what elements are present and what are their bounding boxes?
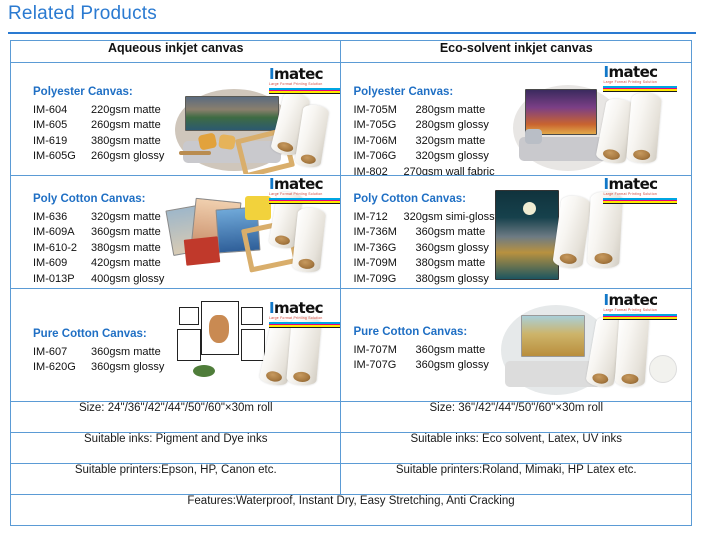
product-desc: 320gsm simi-glossy: [403, 210, 500, 226]
cmyk-bar: [269, 322, 341, 328]
logo-tagline: Large Format Printing Solution: [603, 80, 681, 85]
product-code: IM-620G: [33, 360, 91, 376]
size-row: Size: 24"/36"/42"/44"/50"/60"×30m roll S…: [11, 402, 692, 433]
product-item: IM-709M380gsm matte: [353, 256, 500, 272]
logo-tagline: Large Format Printing Solution: [269, 192, 341, 197]
spec-list-eco-poly-cotton: Poly Cotton Canvas: IM-712320gsm simi-gl…: [353, 192, 500, 287]
logo-wordmark: Imatec: [269, 177, 341, 192]
product-code: IM-707M: [353, 343, 415, 359]
roll-core: [592, 372, 609, 385]
logo-matec: matec: [608, 63, 657, 81]
logo-wordmark: Imatec: [603, 65, 681, 80]
imatec-logo: Imatec Large Format Printing Solution: [603, 293, 681, 320]
product-item: IM-736M360gsm matte: [353, 225, 500, 241]
product-code: IM-706G: [353, 149, 415, 165]
logo-tagline: Large Format Printing Solution: [603, 308, 681, 313]
roll-core: [603, 148, 622, 161]
printers-row: Suitable printers:Epson, HP, Canon etc. …: [11, 464, 692, 495]
product-desc: 360gsm matte: [91, 345, 161, 361]
features-row: Features:Waterproof, Instant Dry, Easy S…: [11, 495, 692, 526]
product-item: IM-705M280gsm matte: [353, 103, 494, 119]
canvas-artwork-wheat: [521, 315, 585, 357]
product-code: IM-712: [353, 210, 403, 226]
product-desc: 360gsm glossy: [91, 360, 164, 376]
spec-list-eco-pure-cotton: Pure Cotton Canvas: IM-707M360gsm matte …: [353, 325, 488, 374]
product-code: IM-636: [33, 210, 91, 226]
product-desc: 360gsm matte: [415, 343, 485, 359]
title-divider: [8, 32, 696, 34]
product-item: IM-712320gsm simi-glossy: [353, 210, 500, 226]
product-item: IM-605G260gsm glossy: [33, 149, 164, 165]
roll-core: [276, 141, 294, 154]
roll-core: [595, 252, 614, 264]
category-label: Pure Cotton Canvas:: [33, 327, 164, 343]
product-desc: 280gsm matte: [415, 103, 485, 119]
cell-eco-polyester: Polyester Canvas: IM-705M280gsm matte IM…: [341, 63, 692, 176]
product-code: IM-736M: [353, 225, 415, 241]
product-item: IM-013P400gsm glossy: [33, 272, 164, 288]
logo-wordmark: Imatec: [603, 177, 681, 192]
cmyk-bar: [269, 88, 341, 94]
gallery-frame: [179, 307, 199, 325]
roll-core: [560, 253, 578, 265]
imatec-logo: Imatec Large Format Printing Solution: [269, 177, 341, 204]
imatec-logo: Imatec Large Format Printing Solution: [603, 177, 681, 204]
inks-left: Suitable inks: Pigment and Dye inks: [11, 433, 341, 464]
cell-eco-pure-cotton: Pure Cotton Canvas: IM-707M360gsm matte …: [341, 289, 692, 402]
product-desc: 380gsm matte: [415, 256, 485, 272]
size-right: Size: 36"/42"/44"/50"/60"×30m roll: [341, 402, 692, 433]
roll-core: [274, 234, 290, 245]
cmyk-bar: [603, 86, 677, 92]
inks-right: Suitable inks: Eco solvent, Latex, UV in…: [341, 433, 692, 464]
logo-matec: matec: [608, 176, 657, 194]
color-swatch: [245, 196, 271, 220]
product-desc: 320gsm matte: [415, 134, 485, 150]
product-desc: 360gsm matte: [415, 225, 485, 241]
product-desc: 400gsm glossy: [91, 272, 164, 288]
roll-core: [622, 373, 640, 384]
product-desc: 380gsm matte: [91, 241, 161, 257]
product-code: IM-609A: [33, 225, 91, 241]
logo-tagline: Large Format Printing Solution: [269, 316, 341, 321]
product-desc: 320gsm glossy: [415, 149, 488, 165]
canvas-roll: [626, 92, 662, 164]
product-code: IM-802: [353, 165, 403, 176]
product-code: IM-013P: [33, 272, 91, 288]
gallery-frame: [177, 329, 201, 361]
product-desc: 360gsm glossy: [415, 358, 488, 374]
roll-core: [265, 370, 283, 383]
product-desc: 260gsm glossy: [91, 149, 164, 165]
product-desc: 270gsm wall fabric: [403, 165, 494, 176]
cmyk-bar: [603, 314, 677, 320]
printers-right: Suitable printers:Roland, Mimaki, HP Lat…: [341, 464, 692, 495]
table-header-row: Aqueous inkjet canvas Eco-solvent inkjet…: [11, 41, 692, 63]
product-item: IM-706G320gsm glossy: [353, 149, 494, 165]
imatec-logo: Imatec Large Format Printing Solution: [269, 301, 341, 328]
inks-row: Suitable inks: Pigment and Dye inks Suit…: [11, 433, 692, 464]
product-item: IM-620G360gsm glossy: [33, 360, 164, 376]
page-title: Related Products: [8, 3, 157, 25]
logo-tagline: Large Format Printing Solution: [269, 82, 341, 87]
size-left: Size: 24"/36"/42"/44"/50"/60"×30m roll: [11, 402, 341, 433]
spec-list-aqueous-pure-cotton: Pure Cotton Canvas: IM-607360gsm matte I…: [33, 327, 164, 376]
product-item: IM-705G280gsm glossy: [353, 118, 494, 134]
product-desc: 280gsm glossy: [415, 118, 488, 134]
product-item: IM-636320gsm matte: [33, 210, 164, 226]
product-code: IM-709M: [353, 256, 415, 272]
product-desc: 320gsm matte: [91, 210, 161, 226]
coffee-table: [179, 151, 211, 155]
gallery-frame: [241, 307, 263, 325]
spec-list-aqueous-polyester: Polyester Canvas: IM-604220gsm matte IM-…: [33, 85, 164, 165]
cell-aqueous-poly-cotton: Poly Cotton Canvas: IM-636320gsm matte I…: [11, 176, 341, 289]
logo-matec: matec: [608, 291, 657, 309]
canvas-print: [184, 236, 221, 265]
spec-list-eco-polyester: Polyester Canvas: IM-705M280gsm matte IM…: [353, 85, 494, 176]
product-desc: 360gsm matte: [91, 225, 161, 241]
product-code: IM-705M: [353, 103, 415, 119]
imatec-logo: Imatec Large Format Printing Solution: [603, 65, 681, 92]
cushion: [218, 134, 236, 150]
spec-list-aqueous-poly-cotton: Poly Cotton Canvas: IM-636320gsm matte I…: [33, 192, 164, 287]
imatec-logo: Imatec Large Format Printing Solution: [269, 67, 341, 94]
category-label: Pure Cotton Canvas:: [353, 325, 488, 341]
product-desc: 420gsm matte: [91, 256, 161, 272]
product-row-polyester: Polyester Canvas: IM-604220gsm matte IM-…: [11, 63, 692, 176]
product-item: IM-802270gsm wall fabric: [353, 165, 494, 176]
product-row-poly-cotton: Poly Cotton Canvas: IM-636320gsm matte I…: [11, 176, 692, 289]
product-item: IM-609420gsm matte: [33, 256, 164, 272]
related-products-table: Aqueous inkjet canvas Eco-solvent inkjet…: [10, 40, 692, 526]
roll-core: [298, 258, 315, 270]
category-label: Polyester Canvas:: [353, 85, 494, 101]
product-item: IM-707G360gsm glossy: [353, 358, 488, 374]
product-desc: 360gsm glossy: [415, 241, 488, 257]
product-code: IM-619: [33, 134, 91, 150]
features-text: Features:Waterproof, Instant Dry, Easy S…: [11, 495, 692, 526]
roll-core: [293, 371, 311, 382]
product-code: IM-604: [33, 103, 91, 119]
product-row-pure-cotton: Pure Cotton Canvas: IM-607360gsm matte I…: [11, 289, 692, 402]
gallery-frame: [241, 329, 265, 361]
logo-matec: matec: [274, 65, 323, 83]
cushion: [525, 129, 542, 144]
cell-aqueous-pure-cotton: Pure Cotton Canvas: IM-607360gsm matte I…: [11, 289, 341, 402]
cmyk-bar: [269, 198, 341, 204]
category-label: Poly Cotton Canvas:: [33, 192, 164, 208]
product-code: IM-705G: [353, 118, 415, 134]
roll-core: [300, 154, 316, 165]
header-aqueous: Aqueous inkjet canvas: [11, 41, 341, 63]
product-item: IM-605260gsm matte: [33, 118, 164, 134]
deer-artwork: [209, 315, 229, 343]
product-item: IM-736G360gsm glossy: [353, 241, 500, 257]
product-code: IM-610-2: [33, 241, 91, 257]
category-label: Poly Cotton Canvas:: [353, 192, 500, 208]
product-code: IM-607: [33, 345, 91, 361]
header-eco-solvent: Eco-solvent inkjet canvas: [341, 41, 692, 63]
logo-matec: matec: [274, 176, 323, 194]
logo-wordmark: Imatec: [269, 301, 341, 316]
logo-matec: matec: [274, 299, 323, 317]
logo-wordmark: Imatec: [269, 67, 341, 82]
canvas-roll: [615, 312, 650, 388]
canvas-artwork: [185, 96, 279, 131]
product-code: IM-605G: [33, 149, 91, 165]
product-code: IM-609: [33, 256, 91, 272]
product-code: IM-709G: [353, 272, 415, 288]
printers-left: Suitable printers:Epson, HP, Canon etc.: [11, 464, 341, 495]
product-item: IM-609A360gsm matte: [33, 225, 164, 241]
plant-decor: [193, 365, 215, 377]
category-label: Polyester Canvas:: [33, 85, 164, 101]
roll-core: [633, 149, 651, 160]
product-desc: 220gsm matte: [91, 103, 161, 119]
product-code: IM-736G: [353, 241, 415, 257]
product-item: IM-709G380gsm glossy: [353, 272, 500, 288]
product-item: IM-706M320gsm matte: [353, 134, 494, 150]
product-desc: 260gsm matte: [91, 118, 161, 134]
product-code: IM-605: [33, 118, 91, 134]
product-item: IM-607360gsm matte: [33, 345, 164, 361]
logo-wordmark: Imatec: [603, 293, 681, 308]
product-desc: 380gsm matte: [91, 134, 161, 150]
logo-tagline: Large Format Printing Solution: [603, 192, 681, 197]
texture-swatch: [649, 355, 677, 383]
cmyk-bar: [603, 198, 677, 204]
cell-eco-poly-cotton: Poly Cotton Canvas: IM-712320gsm simi-gl…: [341, 176, 692, 289]
product-desc: 380gsm glossy: [415, 272, 488, 288]
canvas-roll: [292, 207, 327, 274]
cell-aqueous-polyester: Polyester Canvas: IM-604220gsm matte IM-…: [11, 63, 341, 176]
product-code: IM-706M: [353, 134, 415, 150]
product-item: IM-707M360gsm matte: [353, 343, 488, 359]
product-item: IM-610-2380gsm matte: [33, 241, 164, 257]
product-code: IM-707G: [353, 358, 415, 374]
product-item: IM-619380gsm matte: [33, 134, 164, 150]
product-item: IM-604220gsm matte: [33, 103, 164, 119]
